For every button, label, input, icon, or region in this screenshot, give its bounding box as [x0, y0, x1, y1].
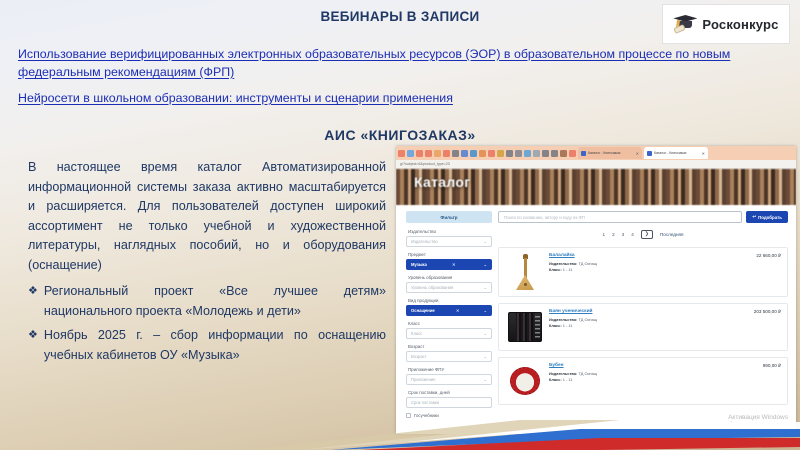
- filter-select-publisher[interactable]: Издательство ⌄: [406, 236, 492, 247]
- bookmark-icon[interactable]: [542, 150, 549, 157]
- clear-icon[interactable]: ✕: [456, 308, 459, 313]
- browser-screenshot: Каталог - Книгозаказ ✕ Каталог - Книгоза…: [396, 146, 796, 434]
- bookmark-icon[interactable]: [569, 150, 576, 157]
- publisher-value: ТД Оснащ: [578, 317, 596, 322]
- chevron-down-icon: ⌄: [484, 354, 487, 359]
- last-page-link[interactable]: Последняя: [660, 232, 683, 237]
- checkbox-label: Госучебники: [414, 413, 439, 418]
- bookmark-icon[interactable]: [434, 150, 441, 157]
- filter-label-age: Возраст: [408, 344, 492, 349]
- bayan-icon: [508, 312, 542, 342]
- catalog-results: Поиск по названию, автору и коду из ФП ↩…: [498, 211, 788, 434]
- chevron-down-icon: ⌄: [484, 331, 487, 336]
- bookmark-icon[interactable]: [425, 150, 432, 157]
- publisher-label: Издательство:: [549, 371, 577, 376]
- filter-value: Возраст: [411, 354, 427, 359]
- bookmark-icon[interactable]: [470, 150, 477, 157]
- tab-title: Каталог - Книгозаказ: [588, 151, 621, 155]
- class-label: Класс:: [549, 323, 562, 328]
- graduation-cap-icon: [673, 13, 697, 35]
- filter-label-delivery: Срок поставки, дней: [408, 390, 492, 395]
- close-icon[interactable]: ✕: [702, 151, 705, 156]
- class-value: 1 - 11: [563, 323, 573, 328]
- product-price: 203 500,00 ₽: [750, 309, 781, 345]
- filter-input-delivery[interactable]: Срок поставки: [406, 397, 492, 408]
- filter-value: Музыка: [411, 262, 427, 267]
- class-value: 1 - 11: [563, 377, 573, 382]
- rosconkurs-logo: Росконкурс: [662, 4, 790, 44]
- product-image: [505, 363, 545, 399]
- class-label: Класс:: [549, 377, 562, 382]
- tab-title: Каталог - Книгозаказ: [654, 151, 687, 155]
- diamond-bullet-icon: ❖: [28, 326, 38, 365]
- product-price: 990,00 ₽: [759, 363, 781, 399]
- page-2[interactable]: 2: [612, 232, 615, 237]
- filter-select-product-type[interactable]: Оснащение ✕ ⌄: [406, 305, 492, 316]
- publisher-value: ТД Оснащ: [578, 261, 596, 266]
- bullet-text: Ноябрь 2025 г. – сбор информации по осна…: [44, 326, 386, 365]
- bookmark-icon[interactable]: [416, 150, 423, 157]
- search-placeholder: Поиск по названию, автору и коду из ФП: [504, 215, 585, 220]
- pick-button-label: Подобрать: [758, 215, 782, 220]
- page-4[interactable]: 4: [631, 232, 634, 237]
- checkbox-icon[interactable]: [406, 413, 411, 418]
- chevron-down-icon: ⌄: [484, 262, 487, 267]
- product-card[interactable]: Балалайка Издательство: ТД Оснащ Класс: …: [498, 247, 788, 297]
- close-icon[interactable]: ✕: [636, 151, 639, 156]
- address-bar[interactable]: g/?subject=6&product_type=23: [396, 160, 796, 169]
- pagination: 1 2 3 4 ❯ Последняя: [498, 230, 788, 239]
- bookmark-icon[interactable]: [443, 150, 450, 157]
- publisher-value: ТД Оснащ: [578, 371, 596, 376]
- product-info: Баян ученический Издательство: ТД Оснащ …: [545, 309, 750, 345]
- page-1[interactable]: 1: [603, 232, 606, 237]
- filter-label-subject: Предмет: [408, 252, 492, 257]
- search-input[interactable]: Поиск по названию, автору и коду из ФП: [498, 211, 742, 223]
- product-name[interactable]: Балалайка: [549, 253, 752, 258]
- filter-label-fpu: Приложение ФПУ: [408, 367, 492, 372]
- chevron-down-icon: ⌄: [484, 377, 487, 382]
- chevron-down-icon: ⌄: [484, 308, 487, 313]
- page-3[interactable]: 3: [622, 232, 625, 237]
- list-item: ❖ Ноябрь 2025 г. – сбор информации по ос…: [28, 326, 386, 365]
- filter-value: Приложение: [411, 377, 436, 382]
- filter-select-education-level[interactable]: Уровень образования ⌄: [406, 282, 492, 293]
- list-item: ❖ Региональный проект «Все лучшее детям»…: [28, 282, 386, 321]
- filter-label-education-level: Уровень образования: [408, 275, 492, 280]
- product-class: Класс: 1 - 11: [549, 323, 750, 329]
- product-name[interactable]: Баян ученический: [549, 309, 750, 314]
- product-card[interactable]: Бубен Издательство: ТД Оснащ Класс: 1 - …: [498, 357, 788, 405]
- browser-tab-active[interactable]: Каталог - Книгозаказ ✕: [644, 147, 708, 159]
- bullet-text: Региональный проект «Все лучшее детям» н…: [44, 282, 386, 321]
- product-price: 22 660,00 ₽: [752, 253, 781, 291]
- filter-select-subject[interactable]: Музыка ✕ ⌄: [406, 259, 492, 270]
- bookmark-icon[interactable]: [551, 150, 558, 157]
- product-class: Класс: 1 - 11: [549, 267, 752, 273]
- bookmark-icon[interactable]: [488, 150, 495, 157]
- filter-label-publisher: Издательство: [408, 229, 492, 234]
- balalaika-icon: [516, 253, 534, 291]
- filter-label-class: Класс: [408, 321, 492, 326]
- pick-button[interactable]: ↩ Подобрать: [746, 211, 788, 223]
- logo-label: Росконкурс: [702, 17, 778, 32]
- bullet-list: ❖ Региональный проект «Все лучшее детям»…: [28, 282, 386, 365]
- filter-value: Срок поставки: [411, 400, 439, 405]
- filter-value: Уровень образования: [411, 285, 453, 290]
- product-info: Балалайка Издательство: ТД Оснащ Класс: …: [545, 253, 752, 291]
- catalog-page: Фильтр Издательство Издательство ⌄ Предм…: [396, 205, 796, 434]
- publisher-label: Издательство:: [549, 261, 577, 266]
- product-info: Бубен Издательство: ТД Оснащ Класс: 1 - …: [545, 363, 759, 399]
- bookmark-icon[interactable]: [479, 150, 486, 157]
- filter-value: Оснащение: [411, 308, 435, 313]
- bookmark-icon[interactable]: [515, 150, 522, 157]
- filter-sidebar: Фильтр Издательство Издательство ⌄ Предм…: [406, 211, 492, 434]
- bookmark-icon[interactable]: [524, 150, 531, 157]
- bookmark-icon[interactable]: [398, 150, 405, 157]
- product-name[interactable]: Бубен: [549, 363, 759, 368]
- bookmark-icon[interactable]: [452, 150, 459, 157]
- tricolor-ribbon-decoration: [0, 420, 800, 450]
- body-content: В настоящее время каталог Автоматизирова…: [28, 158, 386, 370]
- intro-paragraph: В настоящее время каталог Автоматизирова…: [28, 158, 386, 275]
- publisher-label: Издательство:: [549, 317, 577, 322]
- class-value: 1 - 11: [563, 267, 573, 272]
- next-page-icon[interactable]: ❯: [641, 230, 653, 239]
- catalog-heading: Каталог: [414, 174, 470, 190]
- tab-favicon-icon: [581, 151, 586, 156]
- search-row: Поиск по названию, автору и коду из ФП ↩…: [498, 211, 788, 223]
- product-image: [505, 253, 545, 291]
- product-class: Класс: 1 - 11: [549, 377, 759, 383]
- buben-icon: [510, 367, 540, 395]
- tab-favicon-icon: [647, 151, 652, 156]
- filter-select-age[interactable]: Возраст ⌄: [406, 351, 492, 362]
- filter-select-class[interactable]: Класс ⌄: [406, 328, 492, 339]
- bookmark-icon[interactable]: [533, 150, 540, 157]
- bookmark-icon[interactable]: [461, 150, 468, 157]
- product-card[interactable]: Баян ученический Издательство: ТД Оснащ …: [498, 303, 788, 351]
- enter-icon: ↩: [752, 214, 756, 220]
- browser-tabstrip: Каталог - Книгозаказ ✕ Каталог - Книгоза…: [396, 146, 796, 160]
- filter-checkbox-gosuchebniki[interactable]: Госучебники: [406, 413, 492, 418]
- filter-value: Издательство: [411, 239, 438, 244]
- bookmark-icon[interactable]: [497, 150, 504, 157]
- catalog-hero-banner: Каталог: [396, 169, 796, 205]
- diamond-bullet-icon: ❖: [28, 282, 38, 321]
- product-image: [505, 309, 545, 345]
- webinar-link-2[interactable]: Нейросети в школьном образовании: инстру…: [18, 89, 782, 107]
- section-title: АИС «КНИГОЗАКАЗ»: [0, 127, 800, 143]
- chevron-down-icon: ⌄: [484, 239, 487, 244]
- webinar-link-1[interactable]: Использование верифицированных электронн…: [18, 45, 782, 81]
- chevron-down-icon: ⌄: [484, 285, 487, 290]
- filter-label-product-type: Вид продукции: [408, 298, 492, 303]
- filter-select-fpu[interactable]: Приложение ⌄: [406, 374, 492, 385]
- clear-icon[interactable]: ✕: [452, 262, 455, 267]
- filter-header: Фильтр: [406, 211, 492, 223]
- class-label: Класс:: [549, 267, 562, 272]
- filter-value: Класс: [411, 331, 422, 336]
- webinar-links: Использование верифицированных электронн…: [18, 45, 782, 107]
- bookmark-icon[interactable]: [407, 150, 414, 157]
- browser-tab-inactive[interactable]: Каталог - Книгозаказ ✕: [578, 147, 642, 159]
- bookmark-icon[interactable]: [506, 150, 513, 157]
- bookmark-icon[interactable]: [560, 150, 567, 157]
